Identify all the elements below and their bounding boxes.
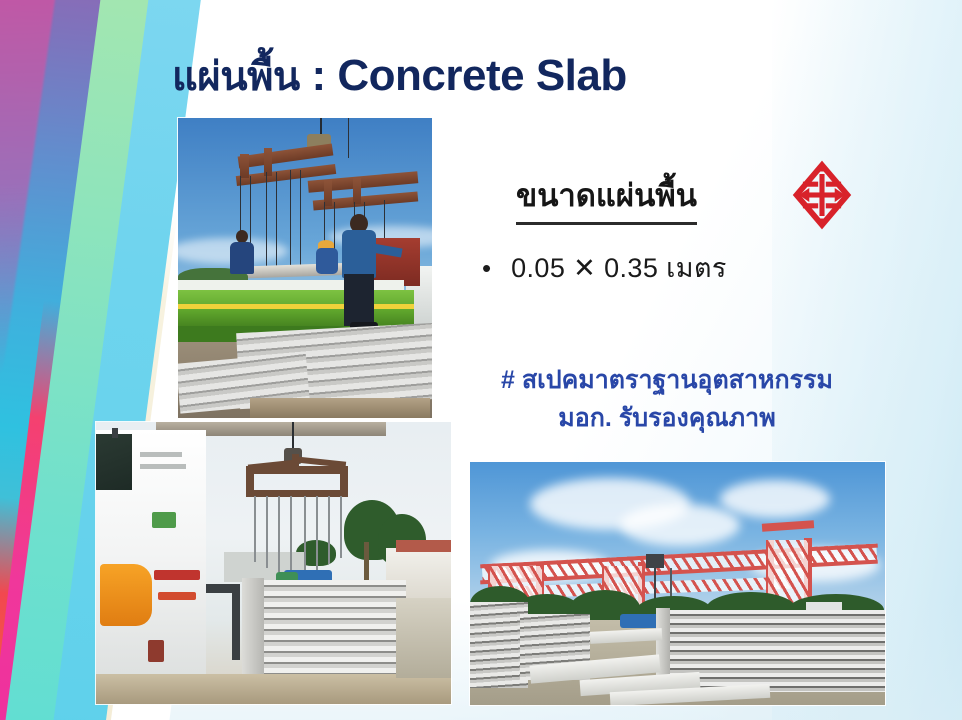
photo3-cloud — [620, 504, 740, 546]
photo1-worker-shirt — [316, 248, 338, 274]
photo-red-gantry-crane-slab-yard — [470, 462, 885, 705]
spec-bullet-row: • 0.05 ✕ 0.35 เมตร — [482, 246, 727, 289]
photo2-truck-decal — [154, 570, 200, 580]
photo1-worker-shirt — [342, 230, 376, 278]
photo2-truck-trim — [140, 464, 186, 469]
tisi-mark-icon — [790, 160, 854, 230]
photo2-truck-headlamp — [100, 564, 152, 626]
photo2-ground — [96, 674, 451, 704]
photo2-yard-surface — [396, 598, 451, 678]
photo2-truck-reflector — [148, 640, 164, 662]
photo2-outrigger-leg — [232, 584, 240, 660]
photo2-lift-rod — [328, 496, 330, 564]
photo1-worker-pants — [344, 274, 374, 326]
photo2-lift-rod — [304, 496, 306, 574]
spec-heading: ขนาดแผ่นพื้น — [516, 170, 697, 225]
photo1-sling — [300, 170, 301, 271]
photo2-roof — [396, 540, 451, 552]
photo2-lift-rod — [266, 496, 268, 568]
photo1-spreader-post — [353, 178, 361, 204]
photo1-sling — [266, 172, 267, 270]
photo1-crane-cable — [348, 118, 349, 158]
slide-title-thai: แผ่นพื้น — [172, 55, 300, 99]
photo2-lift-frame-bottom — [246, 490, 348, 497]
photo1-sling — [290, 170, 291, 270]
slab-dimension-text: 0.05 ✕ 0.35 เมตร — [511, 246, 727, 289]
standards-note-line-2: มอก. รับรองคุณภาพ — [452, 400, 882, 438]
photo-loading-slabs-onto-green-truck — [178, 118, 432, 418]
photo2-slab-stack — [246, 580, 406, 688]
slide-title-english: Concrete Slab — [337, 51, 626, 100]
photo2-truck-trim — [140, 452, 182, 457]
photo2-lift-rod — [316, 496, 318, 570]
photo2-lift-rod — [340, 496, 342, 558]
photo-white-truck-crane-frame-stack — [96, 422, 451, 704]
standards-note-line-1: # สเปคมาตราฐานอุตสาหกรรม — [452, 362, 882, 400]
photo2-truck-sticker — [152, 512, 176, 528]
bullet-marker: • — [482, 255, 491, 281]
photo3-cloud — [720, 480, 830, 518]
photo2-truck-mirror — [112, 428, 118, 438]
photo2-truck-decal — [158, 592, 196, 600]
photo2-palm-trunk — [364, 542, 369, 584]
photo2-lift-rod — [278, 496, 280, 572]
photo1-spreader-post — [324, 180, 332, 206]
photo1-sling — [276, 172, 277, 271]
photo2-lift-rod — [290, 496, 292, 576]
slide-title: แผ่นพื้น : Concrete Slab — [172, 52, 627, 100]
standards-note: # สเปคมาตราฐานอุตสาหกรรม มอก. รับรองคุณภ… — [452, 362, 882, 437]
slide-canvas: แผ่นพื้น : Concrete Slab — [0, 0, 962, 720]
photo2-lift-rod — [254, 496, 256, 562]
photo1-truck-bed — [178, 290, 414, 328]
photo1-truck-stripe — [178, 304, 414, 309]
slide-title-separator: : — [300, 51, 338, 100]
photo1-pallet — [250, 398, 430, 418]
photo1-spreader-post — [240, 154, 249, 178]
photo1-worker-shirt — [230, 242, 254, 274]
photo2-truck-window — [96, 434, 132, 490]
